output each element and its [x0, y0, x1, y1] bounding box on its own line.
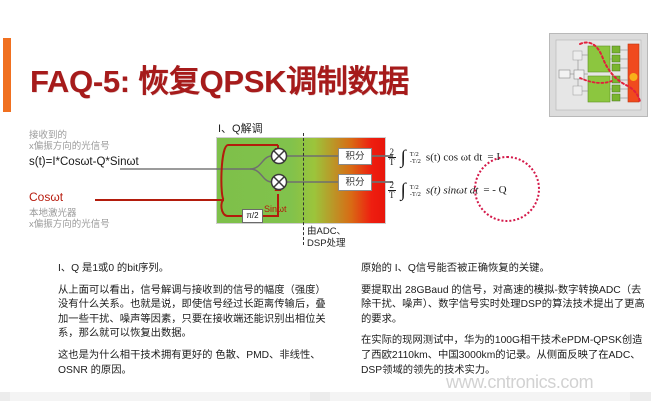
formula-i-coefficient: 2 T — [388, 148, 396, 167]
integral-sign-i: ∫ — [401, 151, 406, 164]
phase-shift-block: π/2 — [242, 209, 263, 223]
formula-i: 2 T ∫ T/2 -T/2 s(t) cos ωt dt = I — [388, 148, 500, 167]
formula-i-limits: T/2 -T/2 — [410, 151, 421, 165]
formula-i-body: s(t) cos ωt dt — [426, 151, 482, 163]
mixer-i — [272, 149, 287, 164]
right-text-column: 原始的 I、Q信号能否被正确恢复的关键。 要提取出 28GBaud 的信号，对高… — [361, 262, 646, 385]
formula-i-lower: -T/2 — [410, 158, 421, 165]
mixer-q — [272, 175, 287, 190]
page-title: FAQ-5: 恢复QPSK调制数据 — [30, 56, 450, 101]
title-accent-bar — [3, 38, 11, 112]
left-paragraph-1: I、Q 是1或0 的bit序列。 — [58, 262, 328, 277]
formula-q-lower: -T/2 — [410, 191, 421, 198]
sin-label: Sinωt — [264, 204, 287, 214]
adc-note-line1: 由ADC、 — [307, 226, 346, 238]
iq-demodulation-diagram: I、Q解调 接收到的 x偏振方向的光信号 s(t)=I*Cosωt-Q*Sinω… — [0, 118, 651, 258]
formula-q-coefficient: 2 T — [388, 181, 396, 200]
footer-bar — [0, 392, 651, 401]
footer-segment-right — [330, 392, 630, 401]
integrator-block-i: 积分 — [338, 148, 372, 165]
right-paragraph-2: 要提取出 28GBaud 的信号，对高速的模拟-数字转换ADC（去除干扰、噪声）… — [361, 284, 646, 328]
formula-i-coef-den: T — [388, 158, 396, 167]
formula-q-upper: T/2 — [410, 184, 421, 191]
formula-q-coef-den: T — [388, 191, 396, 200]
integrator-block-q: 积分 — [338, 174, 372, 191]
left-paragraph-2: 从上面可以看出，信号解调与接收到的信号的幅度（强度）没有什么关系。也就是说，即使… — [58, 284, 328, 342]
slide-canvas: FAQ-5: 恢复QPSK调制数据 — [0, 0, 651, 401]
adc-boundary-line — [303, 133, 304, 245]
integral-sign-q: ∫ — [401, 184, 406, 197]
formula-q-limits: T/2 -T/2 — [410, 184, 421, 198]
left-paragraph-3: 这也是为什么相干技术拥有更好的 色散、PMD、非线性、OSNR 的原因。 — [58, 349, 328, 378]
adc-note: 由ADC、 DSP处理 — [307, 226, 346, 249]
watermark: www.cntronics.com — [446, 372, 593, 393]
left-text-column: I、Q 是1或0 的bit序列。 从上面可以看出，信号解调与接收到的信号的幅度（… — [58, 262, 328, 385]
footer-segment-left — [10, 392, 310, 401]
formula-q-body: s(t) sinωt dt — [426, 184, 478, 196]
result-highlight-circle — [474, 156, 540, 222]
right-paragraph-1: 原始的 I、Q信号能否被正确恢复的关键。 — [361, 262, 646, 277]
formula-i-upper: T/2 — [410, 151, 421, 158]
adc-note-line2: DSP处理 — [307, 238, 346, 250]
coherent-receiver-thumbnail — [549, 33, 648, 117]
